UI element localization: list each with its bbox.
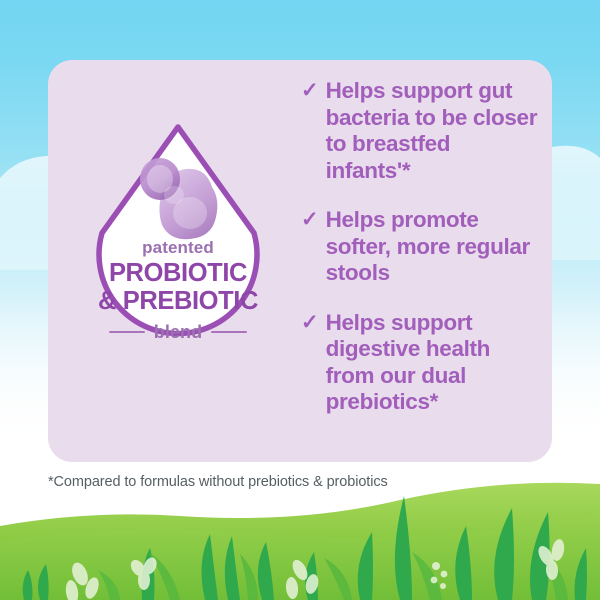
check-icon: ✓ [301, 78, 319, 105]
badge-blend-row: blend [78, 323, 278, 341]
benefit-text: Helps support gut bacteria to be closer … [326, 78, 541, 184]
check-icon: ✓ [301, 310, 319, 337]
benefit-text: Helps promote softer, more regular stool… [326, 207, 541, 287]
feature-card: patented PROBIOTIC & PREBIOTIC blend ✓ H… [48, 60, 552, 462]
promo-graphic: patented PROBIOTIC & PREBIOTIC blend ✓ H… [0, 0, 600, 600]
benefits-list: ✓ Helps support gut bacteria to be close… [301, 78, 541, 416]
badge-blend-label: blend [154, 323, 203, 341]
badge-text-block: patented PROBIOTIC & PREBIOTIC blend [78, 239, 278, 341]
footnote-text: *Compared to formulas without prebiotics… [48, 474, 388, 490]
benefit-item: ✓ Helps promote softer, more regular sto… [301, 207, 541, 287]
blend-rule-right [211, 331, 247, 333]
blend-rule-left [109, 331, 145, 333]
benefit-text: Helps support digestive health from our … [326, 310, 541, 416]
benefit-item: ✓ Helps support digestive health from ou… [301, 310, 541, 416]
benefit-item: ✓ Helps support gut bacteria to be close… [301, 78, 541, 184]
badge-line-prebiotic: & PREBIOTIC [78, 289, 278, 315]
badge-line-probiotic: PROBIOTIC [78, 261, 278, 287]
check-icon: ✓ [301, 207, 319, 234]
badge-patented-label: patented [78, 239, 278, 256]
probiotic-prebiotic-badge: patented PROBIOTIC & PREBIOTIC blend [78, 121, 278, 393]
